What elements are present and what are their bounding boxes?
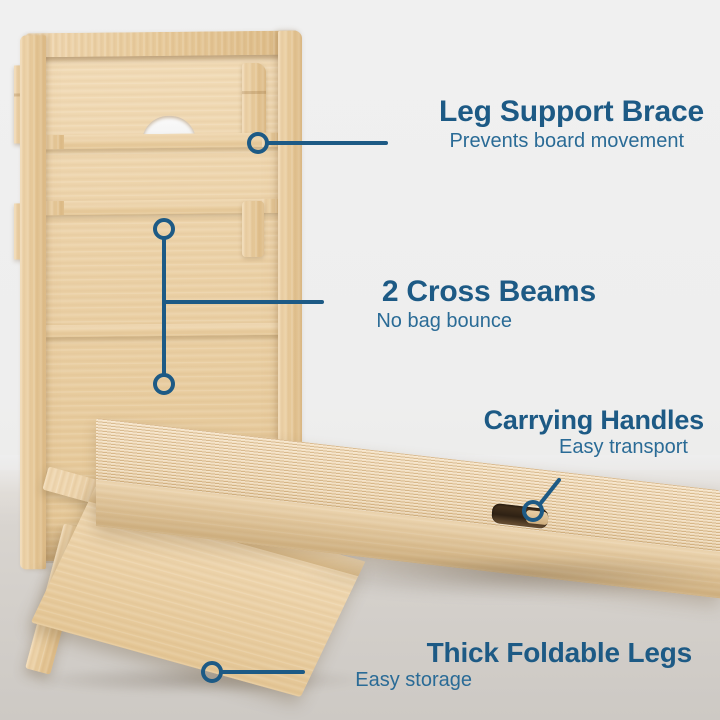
callout-title: Carrying Handles	[0, 406, 704, 434]
callout-title: Thick Foldable Legs	[0, 638, 700, 667]
callout-foldable-legs: Thick Foldable Legs Easy storage	[0, 638, 700, 692]
beam-cap	[44, 201, 64, 215]
brace-notch	[242, 91, 266, 94]
callout-title: 2 Cross Beams	[0, 276, 700, 307]
carrying-handle-lip	[526, 510, 548, 526]
callout-cross-beams: 2 Cross Beams No bag bounce	[0, 276, 700, 333]
front-board-floor-shadow	[300, 560, 720, 600]
callout-subtitle: Easy transport	[0, 436, 704, 459]
standing-board-top-rail	[26, 31, 298, 58]
infographic-stage: Leg Support Brace Prevents board movemen…	[0, 0, 720, 720]
callout-subtitle: Easy storage	[0, 669, 700, 692]
secondary-brace-right	[242, 201, 264, 257]
callout-title: Leg Support Brace	[0, 96, 704, 127]
callout-subtitle: Prevents board movement	[0, 130, 704, 153]
callout-subtitle: No bag bounce	[0, 310, 700, 333]
callout-leg-support-brace: Leg Support Brace Prevents board movemen…	[0, 96, 704, 153]
callout-carrying-handles: Carrying Handles Easy transport	[0, 406, 704, 459]
